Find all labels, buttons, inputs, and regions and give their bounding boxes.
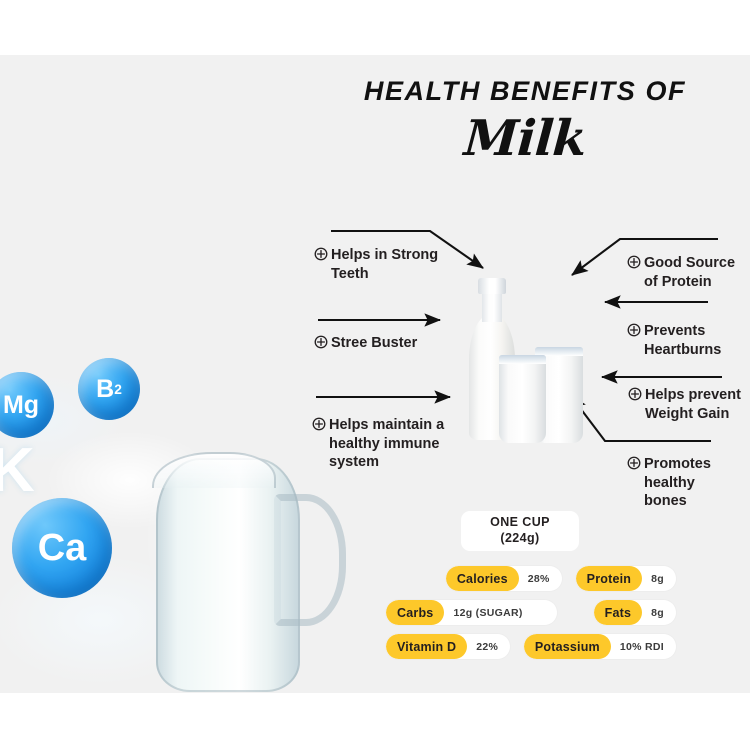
- benefit-good-source-protein: Good Source of Protein: [627, 254, 750, 291]
- serving-size-line2: (224g): [500, 531, 539, 547]
- element-label-potassium-splash: K: [0, 440, 35, 502]
- pitcher-spout: [152, 452, 276, 488]
- benefit-prevent-weight-gain-line2: Weight Gain: [628, 405, 750, 424]
- benefit-promotes-healthy-bones: Promotes healthy bones: [627, 455, 747, 511]
- benefit-prevent-weight-gain: Helps prevent Weight Gain: [628, 386, 750, 423]
- benefit-prevent-weight-gain-line1: Helps prevent: [645, 387, 741, 403]
- benefit-promotes-healthy-bones-line2: healthy: [627, 474, 747, 493]
- benefit-prevents-heartburns: Prevents Heartburns: [627, 322, 750, 359]
- milk-glass-front: [499, 355, 546, 443]
- nutrition-chip-fats-label: Fats: [594, 600, 643, 625]
- plus-circle-icon: [314, 247, 328, 261]
- benefit-prevents-heartburns-line1: Prevents: [644, 323, 705, 339]
- benefit-good-source-protein-line2: of Protein: [627, 273, 750, 292]
- nutrition-chip-fats: Fats 8g: [594, 600, 676, 625]
- nutrition-chip-carbs: Carbs 12g (SUGAR): [386, 600, 557, 625]
- serving-size-line1: ONE CUP: [490, 515, 550, 531]
- bottle-cap: [478, 278, 506, 294]
- plus-circle-icon: [627, 456, 641, 470]
- benefit-immune-system: Helps maintain a healthy immune system: [312, 416, 472, 472]
- nutrition-row-1: Calories 28% Protein 8g: [386, 566, 676, 591]
- benefit-immune-system-line2: healthy immune: [312, 435, 472, 454]
- serving-size-badge: ONE CUP (224g): [461, 511, 579, 551]
- benefit-immune-system-line1: Helps maintain a: [329, 417, 444, 433]
- milk-bottle-and-glasses-graphic: [455, 268, 575, 443]
- plus-circle-icon: [312, 417, 326, 431]
- pitcher-handle: [274, 494, 346, 626]
- nutrition-chip-carbs-value: 12g (SUGAR): [444, 600, 556, 625]
- nutrition-chip-potassium-value: 10% RDI: [611, 634, 676, 659]
- nutrition-chip-protein-label: Protein: [576, 566, 642, 591]
- page-title: HEALTH BENEFITS OF Milk: [355, 78, 695, 164]
- plus-circle-icon: [627, 255, 641, 269]
- nutrition-chip-vitamin-d-label: Vitamin D: [386, 634, 467, 659]
- nutrition-chip-vitamin-d-value: 22%: [467, 634, 510, 659]
- nutrition-chip-calories: Calories 28%: [446, 566, 562, 591]
- plus-circle-icon: [627, 323, 641, 337]
- nutrition-chip-calories-value: 28%: [519, 566, 562, 591]
- benefit-promotes-healthy-bones-line3: bones: [627, 492, 747, 511]
- bottle-neck: [482, 292, 502, 322]
- benefit-stree-buster: Stree Buster: [314, 334, 474, 353]
- nutrition-chip-carbs-label: Carbs: [386, 600, 444, 625]
- element-label-calcium: Ca: [38, 527, 87, 570]
- plus-circle-icon: [628, 387, 642, 401]
- nutrition-chip-fats-value: 8g: [642, 600, 676, 625]
- benefit-promotes-healthy-bones-line1: Promotes: [644, 456, 711, 472]
- element-label-magnesium: Mg: [3, 391, 39, 420]
- title-line-script: Milk: [353, 113, 697, 164]
- benefit-immune-system-line3: system: [312, 453, 472, 472]
- element-label-vitamin-b2: B: [96, 375, 114, 404]
- nutrition-chip-protein-value: 8g: [642, 566, 676, 591]
- plus-circle-icon: [314, 335, 328, 349]
- nutrition-row-3: Vitamin D 22% Potassium 10% RDI: [386, 634, 676, 659]
- nutrition-chip-protein: Protein 8g: [576, 566, 676, 591]
- milk-pitcher-graphic: [146, 440, 341, 690]
- benefit-good-source-protein-line1: Good Source: [644, 255, 735, 271]
- benefit-stree-buster-line1: Stree Buster: [331, 335, 417, 351]
- benefit-strong-teeth-line2: Teeth: [314, 265, 464, 284]
- nutrition-chip-calories-label: Calories: [446, 566, 519, 591]
- benefit-strong-teeth: Helps in Strong Teeth: [314, 246, 464, 283]
- nutrition-chip-potassium: Potassium 10% RDI: [524, 634, 676, 659]
- title-line-primary: HEALTH BENEFITS OF: [355, 78, 695, 105]
- benefit-prevents-heartburns-line2: Heartburns: [627, 341, 750, 360]
- element-sub-vitamin-b2: 2: [114, 382, 122, 397]
- infographic-poster: Mg B2 K Ca HEALTH BENEFITS OF Milk: [0, 0, 750, 750]
- benefit-strong-teeth-line1: Helps in Strong: [331, 247, 438, 263]
- nutrition-row-2: Carbs 12g (SUGAR) Fats 8g: [386, 600, 676, 625]
- element-bubble-calcium: Ca: [12, 498, 112, 598]
- nutrition-chip-list: Calories 28% Protein 8g Carbs 12g (SUGAR…: [386, 566, 676, 668]
- element-bubble-vitamin-b2: B2: [78, 358, 140, 420]
- nutrition-chip-vitamin-d: Vitamin D 22%: [386, 634, 510, 659]
- nutrition-chip-potassium-label: Potassium: [524, 634, 611, 659]
